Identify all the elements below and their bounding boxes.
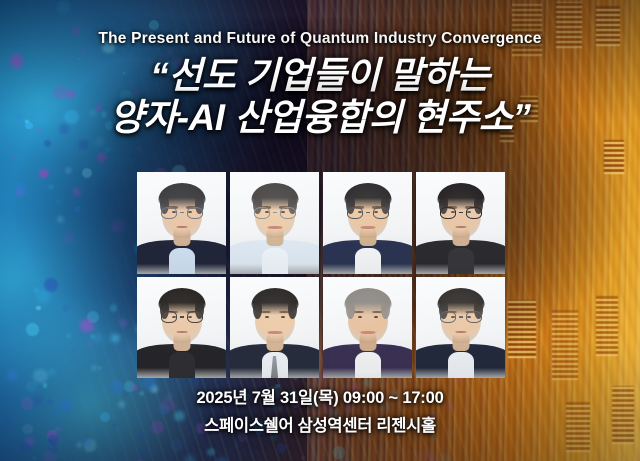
bokeh-dot xyxy=(111,334,120,343)
bokeh-dot xyxy=(333,446,345,458)
portrait-shading xyxy=(416,277,505,379)
bokeh-dot xyxy=(33,457,35,459)
bokeh-dot xyxy=(97,153,106,162)
bokeh-dot xyxy=(57,216,64,223)
bokeh-dot xyxy=(26,323,39,336)
bokeh-dot xyxy=(33,369,48,384)
portrait-shading xyxy=(137,277,226,379)
bokeh-dot xyxy=(11,156,16,161)
quantum-chip-patch xyxy=(604,140,624,174)
korean-title: “선도 기업들이 말하는 양자-AI 산업융합의 현주소” xyxy=(0,55,640,139)
bokeh-dot xyxy=(49,445,52,448)
bokeh-dot xyxy=(207,448,215,456)
bokeh-dot xyxy=(82,168,92,178)
bokeh-dot xyxy=(71,442,73,444)
event-poster: The Present and Future of Quantum Indust… xyxy=(0,0,640,461)
portrait-shading xyxy=(416,172,505,274)
portrait-shading xyxy=(137,172,226,274)
bokeh-dot xyxy=(111,219,126,234)
bokeh-dot xyxy=(216,457,228,461)
bokeh-dot xyxy=(301,456,305,460)
bokeh-dot xyxy=(25,438,34,447)
bokeh-dot xyxy=(136,145,142,151)
headline-block: The Present and Future of Quantum Indust… xyxy=(0,30,640,139)
bokeh-dot xyxy=(95,137,104,146)
bokeh-dot xyxy=(36,289,51,304)
bokeh-dot xyxy=(277,443,287,453)
bokeh-dot xyxy=(66,334,71,339)
bokeh-dot xyxy=(7,370,18,381)
bokeh-dot xyxy=(20,442,23,445)
bokeh-dot xyxy=(105,283,107,285)
bokeh-dot xyxy=(234,443,239,448)
bokeh-dot xyxy=(98,366,102,370)
bokeh-dot xyxy=(73,188,81,196)
bokeh-dot xyxy=(62,305,69,312)
bokeh-dot xyxy=(65,265,75,275)
speaker-photo xyxy=(323,172,412,274)
bokeh-dot xyxy=(112,227,117,232)
bokeh-dot xyxy=(88,343,91,346)
bokeh-dot xyxy=(33,287,39,293)
bokeh-dot xyxy=(440,449,445,454)
bokeh-dot xyxy=(48,435,58,445)
bokeh-dot xyxy=(65,359,67,361)
bokeh-dot xyxy=(74,189,77,192)
bokeh-dot xyxy=(90,334,95,339)
bokeh-dot xyxy=(44,278,58,292)
bokeh-dot xyxy=(82,438,90,446)
bokeh-dot xyxy=(430,436,436,442)
bokeh-dot xyxy=(49,185,53,189)
bokeh-dot xyxy=(65,167,72,174)
portrait-shading xyxy=(323,277,412,379)
bokeh-dot xyxy=(77,442,82,447)
bokeh-dot xyxy=(119,319,127,327)
bokeh-dot xyxy=(21,442,31,452)
bokeh-dot xyxy=(74,206,81,213)
bokeh-dot xyxy=(17,189,24,196)
event-details-block: 2025년 7월 31일(목) 09:00 ~ 17:00 스페이스쉘어 삼성역… xyxy=(0,384,640,436)
bokeh-dot xyxy=(337,457,349,461)
speaker-photo-grid xyxy=(137,172,505,378)
korean-title-line-1: “선도 기업들이 말하는 xyxy=(0,55,640,97)
bokeh-dot xyxy=(44,140,52,148)
bokeh-dot xyxy=(170,439,184,453)
event-date-time: 2025년 7월 31일(목) 09:00 ~ 17:00 xyxy=(0,384,640,408)
speaker-photo xyxy=(416,172,505,274)
quantum-chip-patch xyxy=(596,296,618,356)
bokeh-dot xyxy=(53,435,61,443)
quantum-chip-patch xyxy=(552,310,578,380)
bokeh-dot xyxy=(440,454,450,461)
english-subtitle: The Present and Future of Quantum Indust… xyxy=(0,30,640,48)
bokeh-dot xyxy=(78,139,89,150)
portrait-shading xyxy=(230,277,319,379)
bokeh-dot xyxy=(15,182,28,195)
speaker-photo xyxy=(230,172,319,274)
portrait-shading xyxy=(323,172,412,274)
bokeh-dot xyxy=(110,304,118,312)
bokeh-dot xyxy=(84,439,96,451)
bokeh-dot xyxy=(50,370,54,374)
speaker-photo xyxy=(230,277,319,379)
portrait-shading xyxy=(230,172,319,274)
bokeh-dot xyxy=(87,311,99,323)
speaker-photo xyxy=(416,277,505,379)
bokeh-dot xyxy=(140,451,148,459)
event-venue: 스페이스쉘어 삼성역센터 리젠시홀 xyxy=(0,412,640,436)
quantum-chip-patch xyxy=(508,300,536,358)
bokeh-dot xyxy=(36,306,41,311)
bokeh-dot xyxy=(93,334,101,342)
bokeh-dot xyxy=(57,200,60,203)
speaker-photo xyxy=(323,277,412,379)
speaker-photo xyxy=(137,277,226,379)
bokeh-dot xyxy=(92,366,96,370)
bokeh-dot xyxy=(429,457,440,461)
bokeh-dot xyxy=(39,169,48,178)
bokeh-dot xyxy=(184,455,196,461)
bokeh-dot xyxy=(105,148,110,153)
bokeh-dot xyxy=(43,451,57,461)
speaker-photo xyxy=(137,172,226,274)
bokeh-dot xyxy=(130,234,133,237)
bokeh-dot xyxy=(57,0,70,13)
bokeh-dot xyxy=(48,444,58,454)
bokeh-dot xyxy=(63,232,75,244)
bokeh-dot xyxy=(149,20,159,30)
bokeh-dot xyxy=(80,319,93,332)
korean-title-line-2: 양자-AI 산업융합의 현주소” xyxy=(0,97,640,139)
bokeh-dot xyxy=(420,448,435,461)
